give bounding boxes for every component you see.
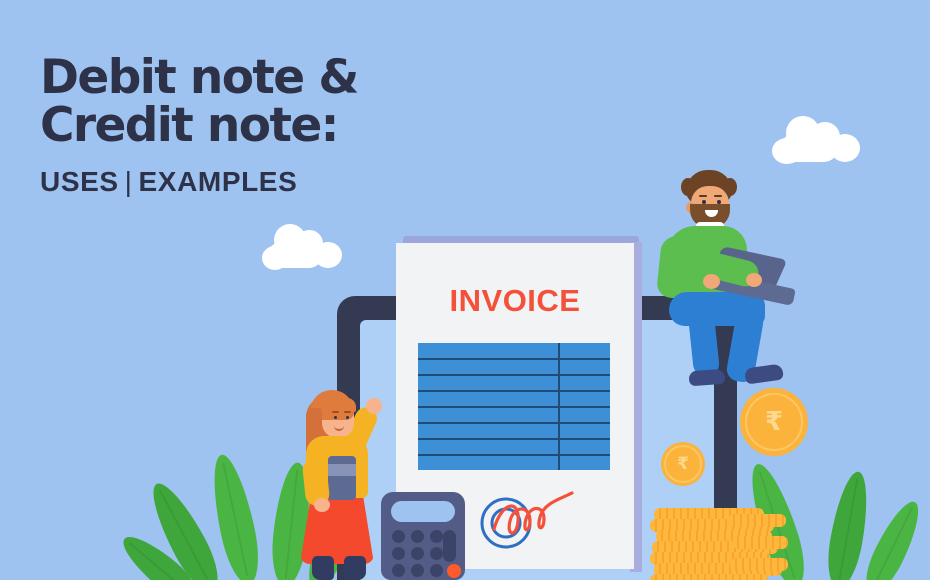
subhead-examples: EXAMPLES (139, 166, 298, 197)
subheadline: USES|EXAMPLES (40, 166, 510, 198)
calculator-equals-key (447, 564, 461, 578)
calculator-key-6 (430, 547, 443, 560)
stack-coin-7 (650, 574, 768, 580)
invoice-line-items-table (418, 343, 610, 470)
stack-coin-8 (728, 514, 786, 527)
man-hand-right (746, 273, 762, 287)
calculator-key-1 (392, 530, 405, 543)
man-hand-left (703, 274, 720, 289)
title-block: Debit note & Credit note: USES|EXAMPLES (40, 54, 510, 198)
calculator-key-2 (411, 530, 424, 543)
leaf-right-2 (822, 469, 874, 580)
calculator-screen (391, 501, 455, 522)
woman-tablet-screen (328, 464, 356, 476)
calculator-key-5 (411, 547, 424, 560)
invoice-heading: INVOICE (396, 283, 634, 319)
man-shoe-back (689, 369, 726, 386)
coin-large-symbol: ₹ (765, 407, 783, 437)
coin-small: ₹ (661, 442, 705, 486)
coin-small-symbol: ₹ (677, 454, 689, 474)
headline-line-1: Debit note & (40, 54, 510, 102)
poster-canvas: INVOICE (0, 0, 930, 580)
calculator-key-7 (392, 564, 405, 577)
man-eye-right (717, 200, 721, 204)
stack-coin-10 (730, 558, 788, 571)
coin-large: ₹ (740, 388, 808, 456)
subhead-separator: | (119, 166, 139, 197)
coin-stack (650, 508, 790, 580)
signature-and-stamp (476, 483, 606, 553)
woman-hand-holding (314, 498, 330, 512)
woman-brow-left (332, 411, 339, 413)
headline-line-2: Credit note: (40, 102, 510, 150)
character-man-with-laptop (645, 170, 820, 385)
subhead-uses: USES (40, 166, 119, 197)
cloud-left (262, 222, 346, 270)
calculator-key-3 (430, 530, 443, 543)
woman-boot-left (312, 556, 334, 580)
leaf-right-3 (858, 496, 929, 580)
woman-tablet (328, 456, 356, 500)
calculator-key-9 (430, 564, 443, 577)
woman-boot-right (344, 556, 366, 580)
calculator-key-8 (411, 564, 424, 577)
woman-hand-raised (366, 398, 382, 414)
man-eye-left (702, 200, 706, 204)
calculator-key-4 (392, 547, 405, 560)
calculator-plus-bar (443, 530, 456, 562)
stack-coin-9 (732, 536, 788, 549)
woman-brow-right (344, 411, 351, 413)
cloud-right (772, 112, 868, 164)
calculator (381, 492, 465, 580)
